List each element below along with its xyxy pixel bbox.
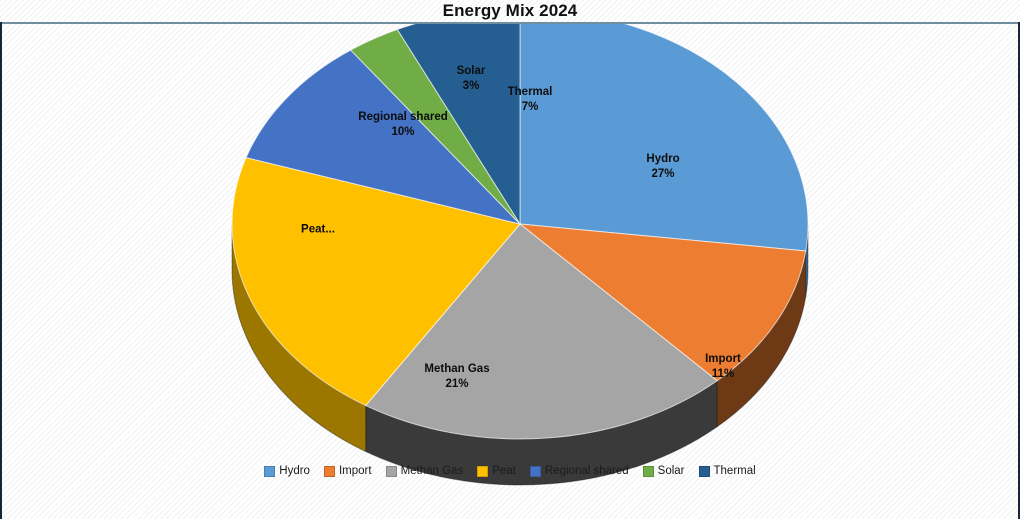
legend-item-label: Hydro <box>279 465 310 477</box>
legend-item[interactable]: Regional shared <box>530 465 629 477</box>
legend-swatch-icon <box>386 466 397 477</box>
legend-swatch-icon <box>477 466 488 477</box>
pie-top-surface <box>232 24 808 439</box>
legend-swatch-icon <box>699 466 710 477</box>
pie-chart[interactable]: Hydro27%Import11%Methan Gas21%Peat...Reg… <box>2 24 1018 486</box>
legend-item-label: Peat <box>492 465 516 477</box>
legend-item[interactable]: Solar <box>643 465 685 477</box>
legend-item[interactable]: Import <box>324 465 372 477</box>
legend-item-label: Regional shared <box>545 465 629 477</box>
plot-area: Hydro27%Import11%Methan Gas21%Peat...Reg… <box>2 24 1018 486</box>
legend-item-label: Import <box>339 465 372 477</box>
legend-item[interactable]: Methan Gas <box>386 465 464 477</box>
chart-legend: HydroImportMethan GasPeatRegional shared… <box>2 462 1018 480</box>
pie-slice[interactable] <box>520 24 808 251</box>
legend-swatch-icon <box>264 466 275 477</box>
legend-item-label: Methan Gas <box>401 465 464 477</box>
legend-item-label: Solar <box>658 465 685 477</box>
legend-item-label: Thermal <box>714 465 756 477</box>
legend-item[interactable]: Hydro <box>264 465 310 477</box>
legend-swatch-icon <box>324 466 335 477</box>
legend-swatch-icon <box>643 466 654 477</box>
pie-svg <box>2 24 1018 486</box>
legend-item[interactable]: Peat <box>477 465 516 477</box>
legend-item[interactable]: Thermal <box>699 465 756 477</box>
legend-swatch-icon <box>530 466 541 477</box>
chart-frame: Energy Mix 2024 Hydro27%Import11%Methan … <box>0 0 1020 519</box>
chart-title: Energy Mix 2024 <box>0 0 1020 22</box>
